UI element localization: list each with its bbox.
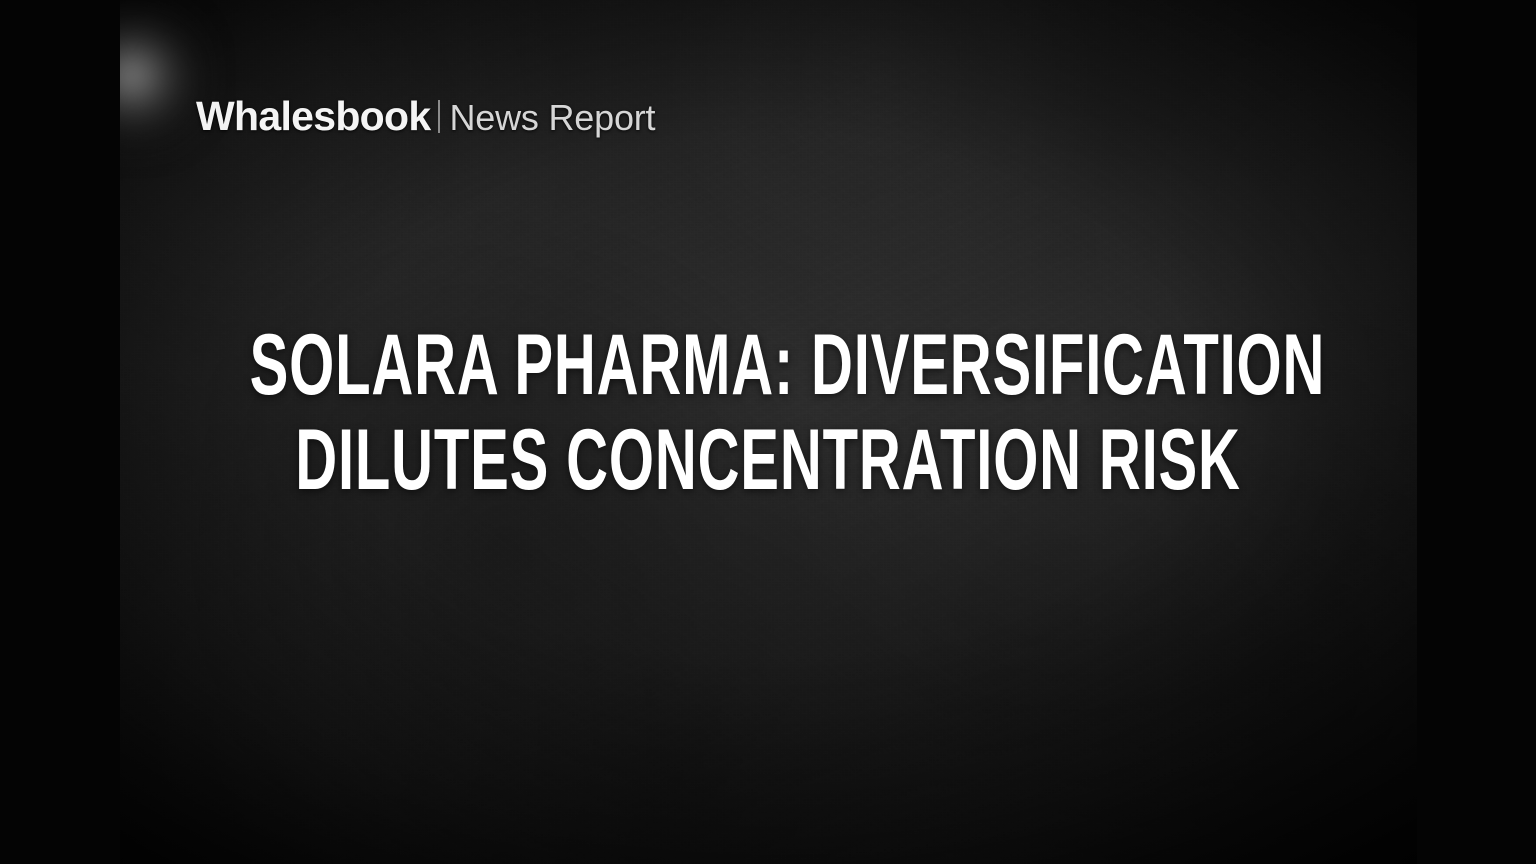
brand-header: Whalesbook News Report <box>196 96 655 137</box>
news-report-slide: Whalesbook News Report SOLARA PHARMA: DI… <box>0 0 1536 864</box>
brand-kicker-label: News Report <box>449 100 655 136</box>
headline-line-2: DILUTES CONCENTRATION RISK <box>250 413 1287 508</box>
page-title: SOLARA PHARMA: DIVERSIFICATION DILUTES C… <box>0 318 1536 508</box>
brand-logo-wordmark: Whalesbook <box>196 96 430 137</box>
brand-divider-icon <box>438 100 440 133</box>
headline-line-1: SOLARA PHARMA: DIVERSIFICATION <box>250 318 1287 413</box>
